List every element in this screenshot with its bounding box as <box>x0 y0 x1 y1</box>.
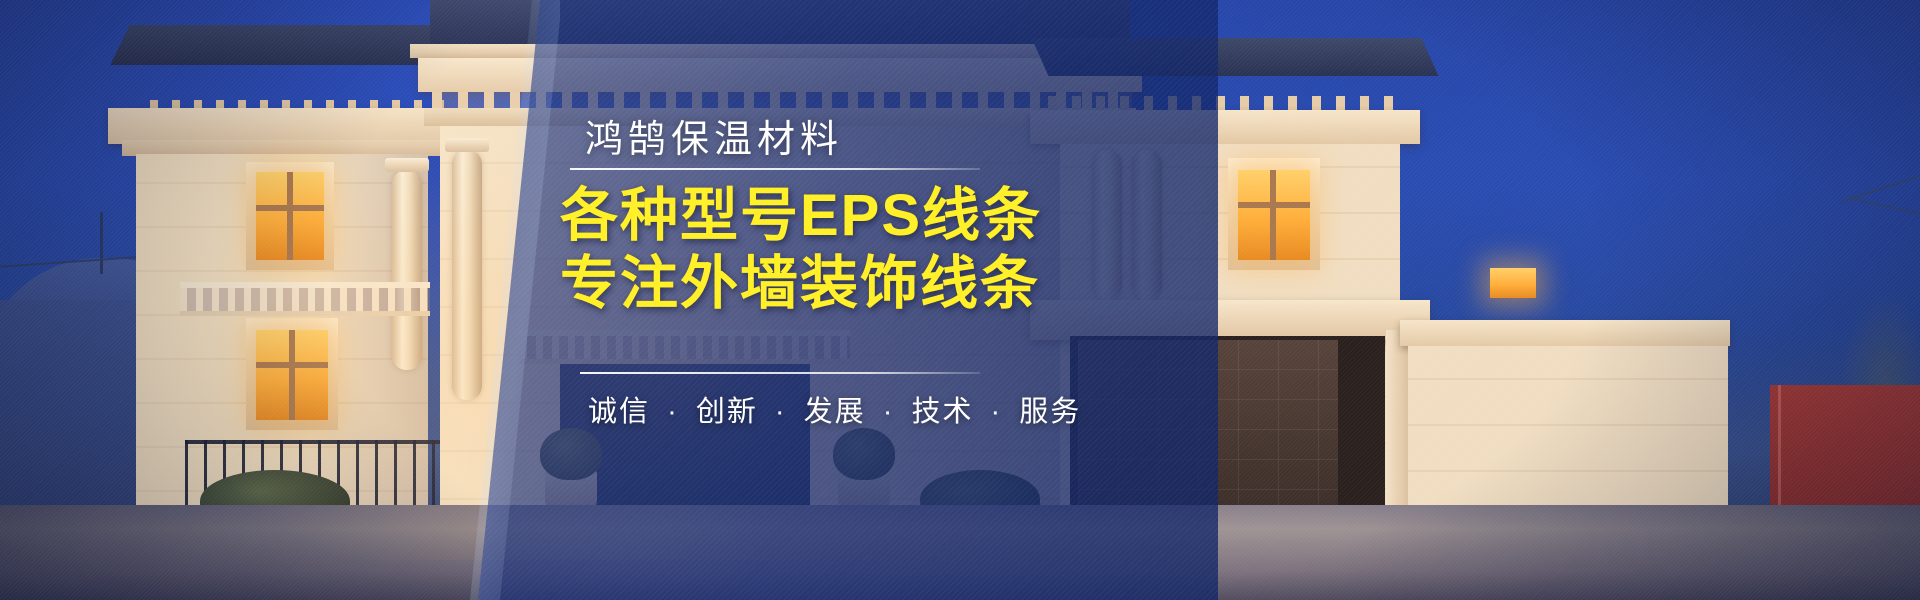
tagline-separator-icon: · <box>991 396 1003 428</box>
pilaster-capital <box>385 158 429 172</box>
divider-top <box>570 168 980 170</box>
window-glow <box>1490 268 1536 298</box>
window-mullion <box>256 205 324 211</box>
tagline-separator-icon: · <box>667 396 679 428</box>
headline-line-2: 专注外墙装饰线条 <box>560 250 1180 318</box>
cornice-far-right <box>1400 320 1730 346</box>
iron-fence-rail <box>185 440 445 444</box>
tagline-item-1: 诚信 <box>588 396 650 428</box>
balustrade <box>180 282 430 316</box>
window-mullion <box>256 362 328 368</box>
cornice-left <box>108 108 448 144</box>
pilaster <box>392 170 422 370</box>
headline-line-1: 各种型号EPS线条 <box>560 182 1180 250</box>
background-mast <box>100 212 103 274</box>
tagline-item-4: 技术 <box>911 396 973 428</box>
window-mullion <box>1238 202 1310 208</box>
window-mullion <box>287 172 293 260</box>
window-mullion <box>1270 170 1276 260</box>
tagline-item-3: 发展 <box>804 396 866 428</box>
tagline-item-5: 服务 <box>1019 396 1081 428</box>
banner-copy: 鸿鹄保温材料 各种型号EPS线条 专注外墙装饰线条 诚信 · 创新 · 发展 ·… <box>560 0 1180 600</box>
headline-block: 各种型号EPS线条 专注外墙装饰线条 <box>560 182 1180 318</box>
brand-name: 鸿鹄保温材料 <box>585 108 843 163</box>
tagline-separator-icon: · <box>775 396 787 428</box>
facade-wall-far-right <box>1408 346 1728 516</box>
promo-banner: 鸿鹄保温材料 各种型号EPS线条 专注外墙装饰线条 诚信 · 创新 · 发展 ·… <box>0 0 1920 600</box>
tagline: 诚信 · 创新 · 发展 · 技术 · 服务 <box>588 388 1081 430</box>
divider-bottom <box>580 372 980 374</box>
pilaster <box>452 150 482 400</box>
tagline-separator-icon: · <box>883 396 895 428</box>
window-mullion <box>289 330 295 420</box>
tagline-item-2: 创新 <box>696 396 758 428</box>
pilaster-capital <box>445 138 489 152</box>
